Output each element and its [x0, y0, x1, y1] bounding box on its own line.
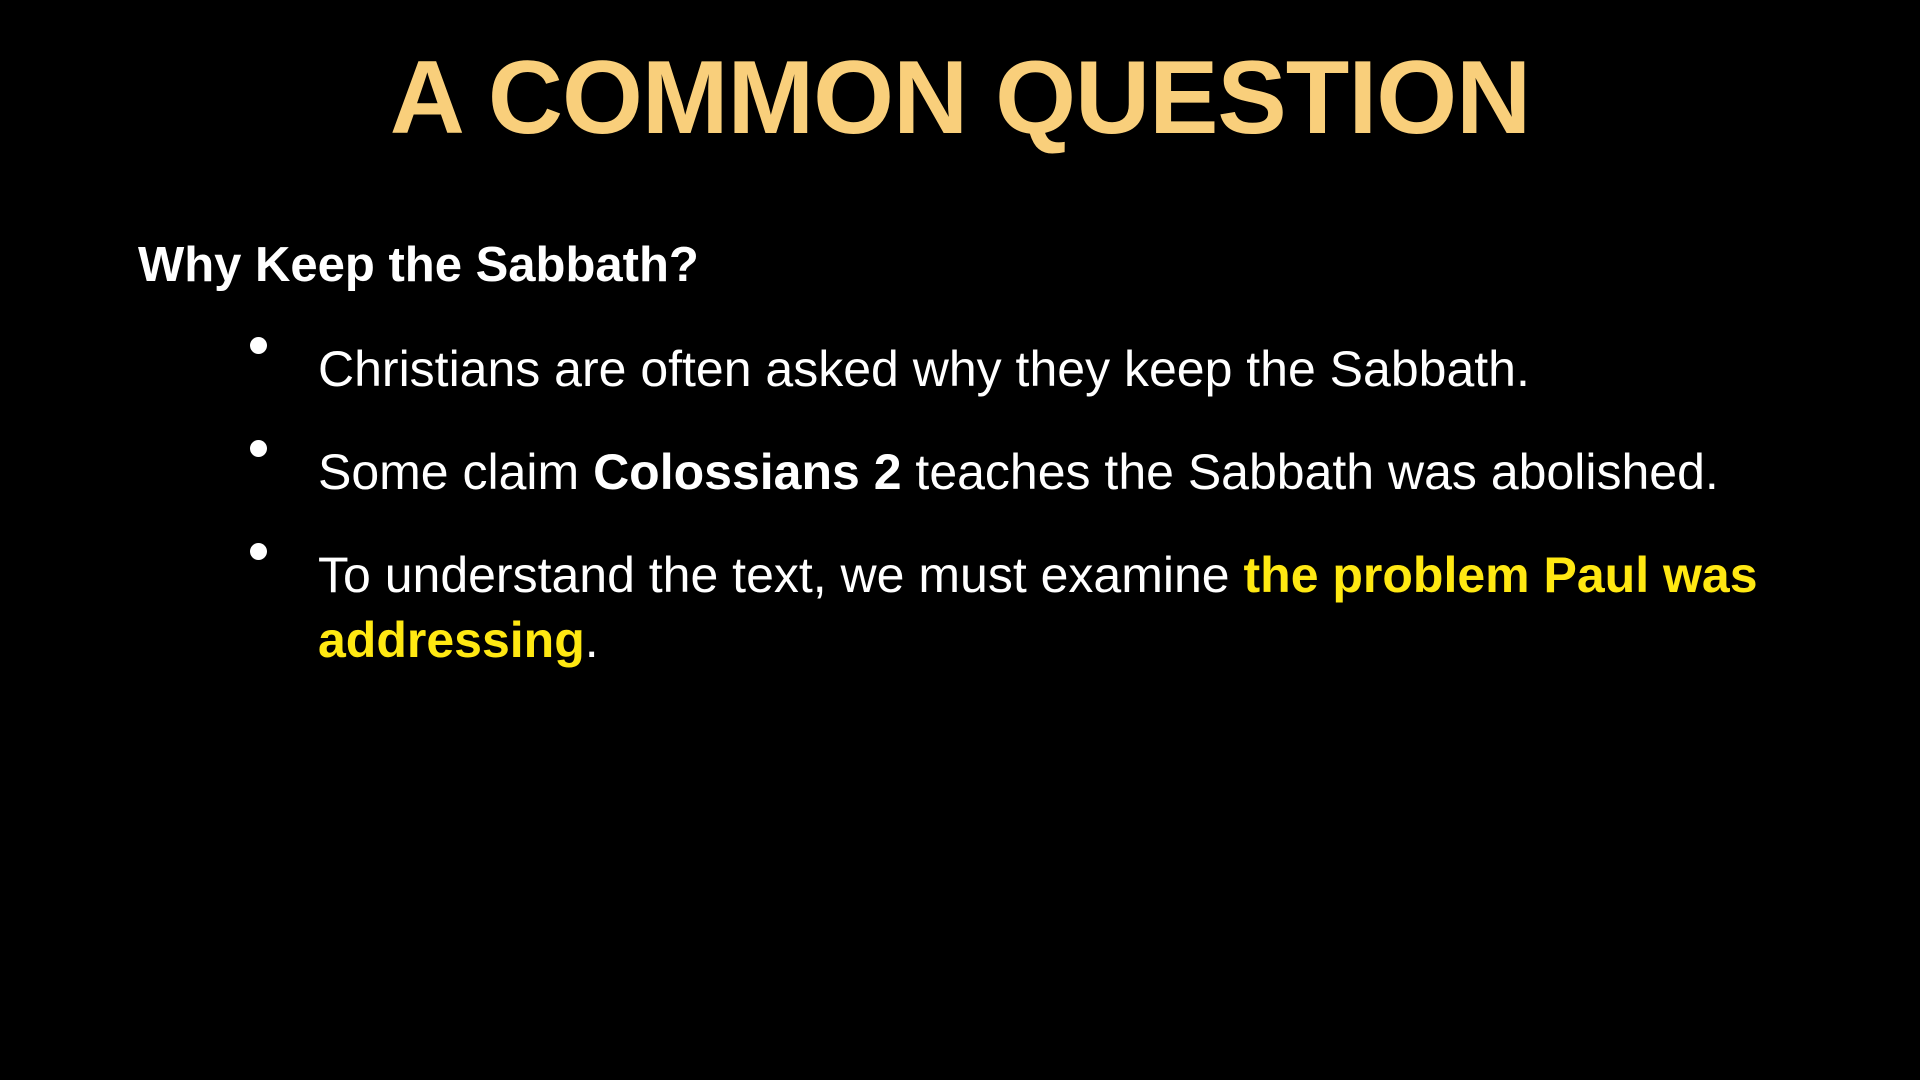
- bullet-point-icon: [250, 337, 267, 354]
- text-run: Some claim: [318, 444, 593, 500]
- text-run: Christians are often asked why they keep…: [318, 341, 1530, 397]
- bullet-list: Christians are often asked why they keep…: [138, 337, 1818, 673]
- text-run: .: [585, 612, 599, 668]
- bullet-point-icon: [250, 543, 267, 560]
- list-item: To understand the text, we must examine …: [138, 543, 1818, 673]
- list-item-text: To understand the text, we must examine …: [318, 543, 1818, 673]
- page-title: A COMMON QUESTION: [0, 42, 1920, 154]
- text-run: To understand the text, we must examine: [318, 547, 1244, 603]
- slide-body: Why Keep the Sabbath? Christians are oft…: [138, 238, 1818, 673]
- list-item-text: Christians are often asked why they keep…: [318, 337, 1818, 402]
- subheading: Why Keep the Sabbath?: [138, 238, 1818, 293]
- text-run: teaches the Sabbath was abolished.: [902, 444, 1719, 500]
- emphasis-scripture-reference: Colossians 2: [593, 444, 901, 500]
- list-item-text: Some claim Colossians 2 teaches the Sabb…: [318, 440, 1818, 505]
- slide: A COMMON QUESTION Why Keep the Sabbath? …: [0, 0, 1920, 1080]
- list-item: Christians are often asked why they keep…: [138, 337, 1818, 402]
- list-item: Some claim Colossians 2 teaches the Sabb…: [138, 440, 1818, 505]
- bullet-point-icon: [250, 440, 267, 457]
